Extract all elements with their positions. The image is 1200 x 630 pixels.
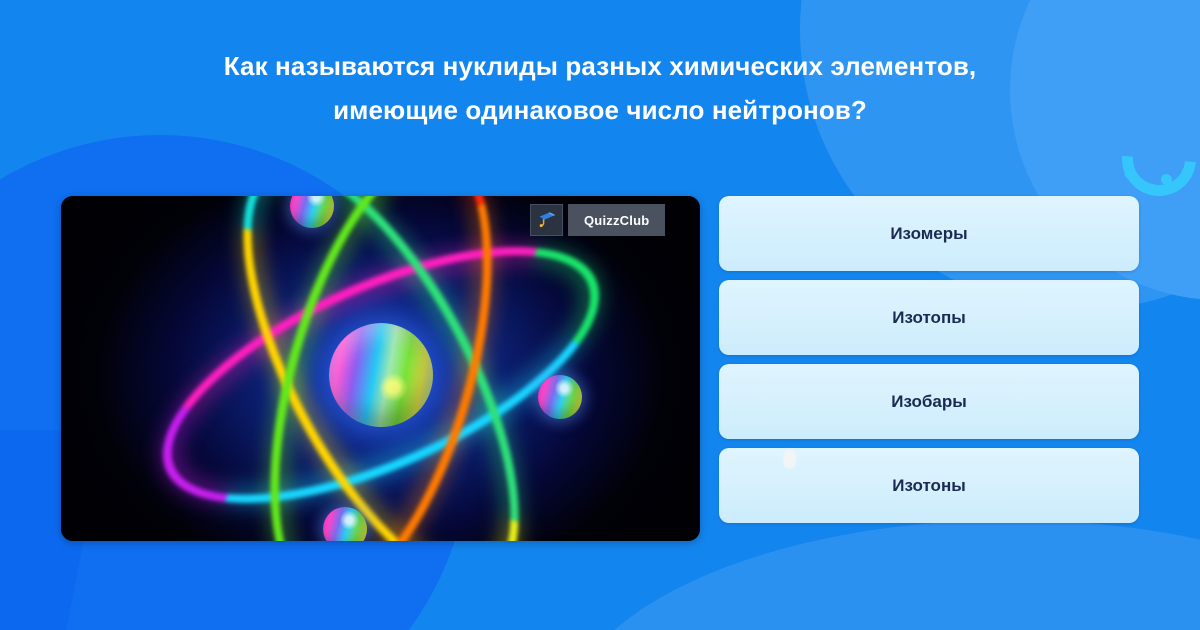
answer-option-1-label: Изомеры xyxy=(890,224,967,244)
answer-option-2-label: Изотопы xyxy=(892,308,965,328)
graduation-cap-icon xyxy=(530,204,563,236)
answer-option-4[interactable]: Изотоны xyxy=(719,448,1139,523)
question-text: Как называются нуклиды разных химических… xyxy=(0,44,1200,132)
cursor-artifact xyxy=(784,450,795,468)
question-image: QuizzClub xyxy=(61,196,700,541)
answer-option-1[interactable]: Изомеры xyxy=(719,196,1139,271)
quiz-card: Как называются нуклиды разных химических… xyxy=(0,0,1200,630)
answer-options: Изомеры Изотопы Изобары Изотоны xyxy=(719,196,1139,532)
answer-option-3[interactable]: Изобары xyxy=(719,364,1139,439)
watermark-brand: QuizzClub xyxy=(568,204,665,236)
answer-option-4-label: Изотоны xyxy=(892,476,965,496)
answer-option-3-label: Изобары xyxy=(891,392,967,412)
atom-electron-right xyxy=(538,375,582,419)
watermark: QuizzClub xyxy=(530,204,665,236)
atom-nucleus xyxy=(329,323,433,427)
atom-illustration xyxy=(61,196,700,541)
question-line-2: имеющие одинаковое число нейтронов? xyxy=(100,88,1100,132)
question-line-1: Как называются нуклиды разных химических… xyxy=(100,44,1100,88)
answer-option-2[interactable]: Изотопы xyxy=(719,280,1139,355)
